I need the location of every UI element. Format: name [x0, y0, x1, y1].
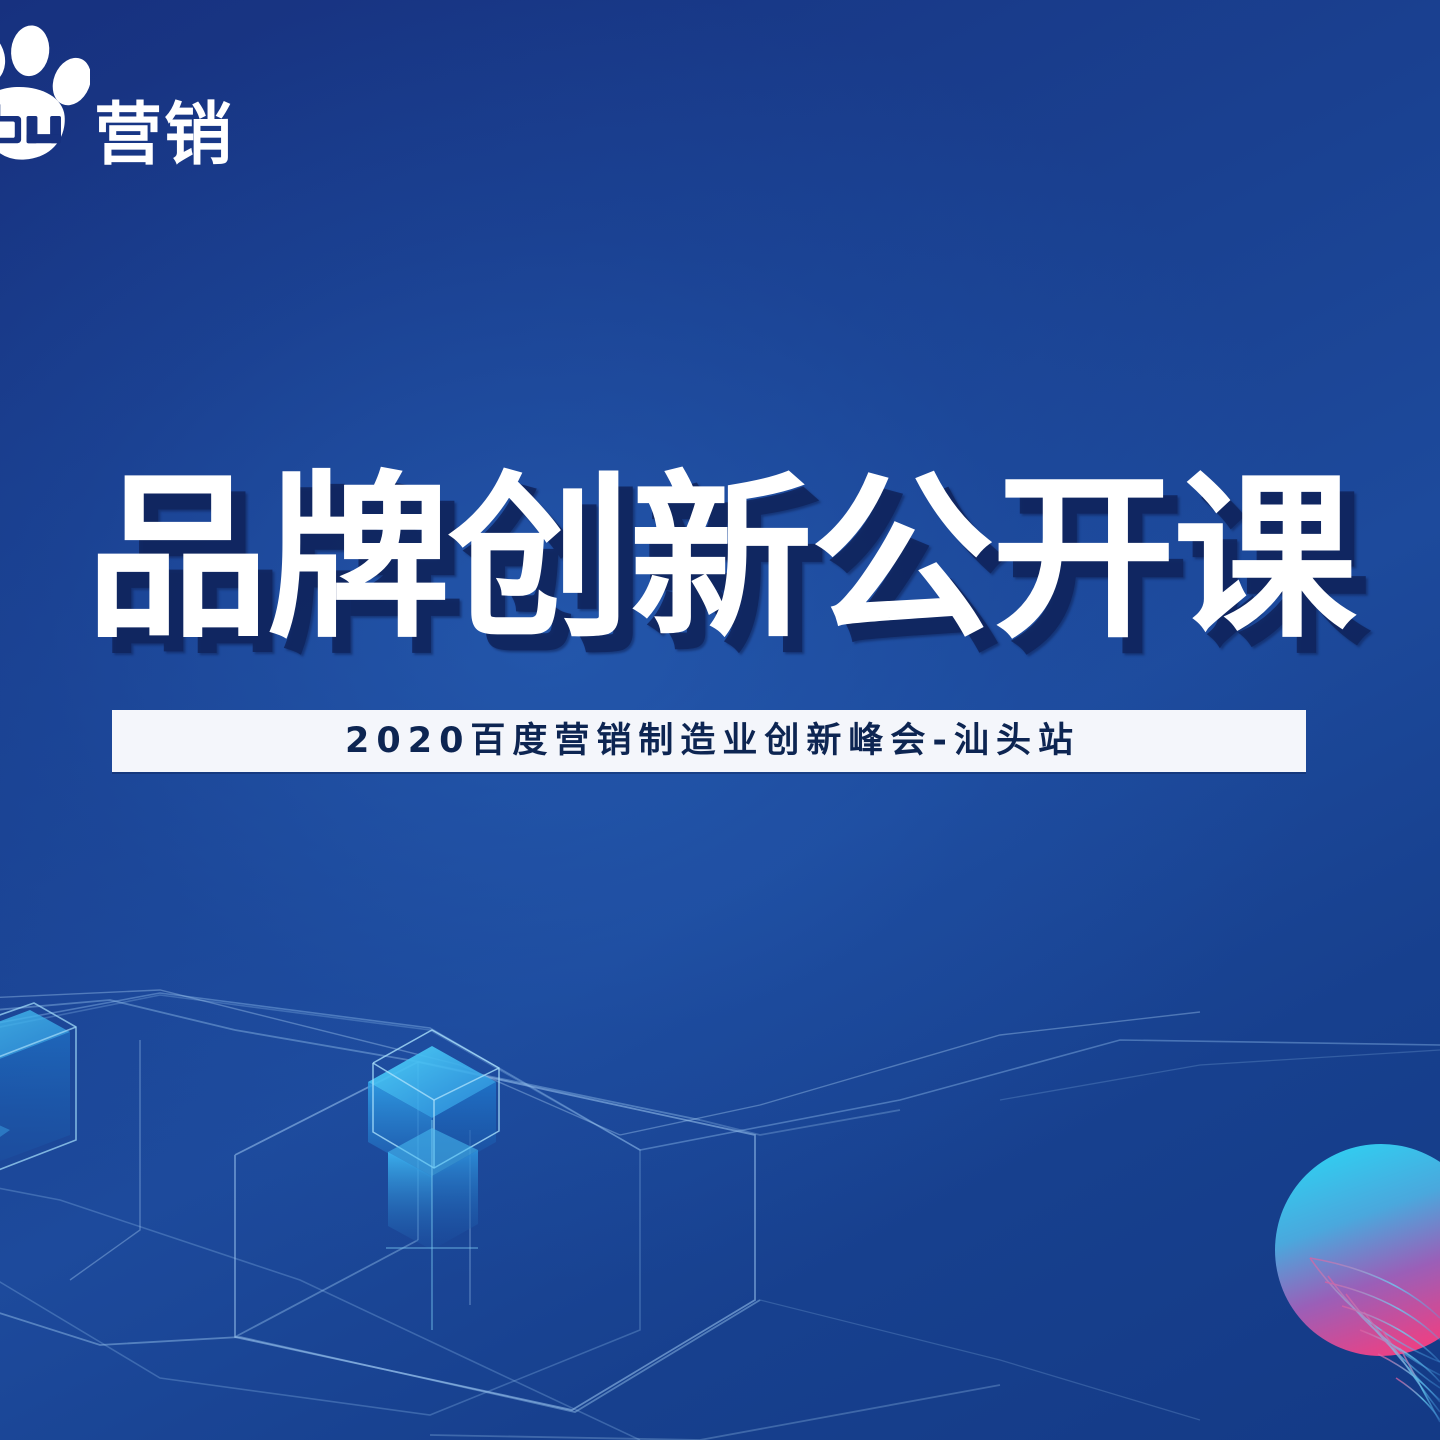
subtitle-text: 2020百度营销制造业创新峰会-汕头站: [338, 724, 1080, 759]
gradient-sphere-icon: [1275, 1144, 1440, 1356]
title-block: 品牌创新公开课: [0, 470, 1440, 648]
page-title: 品牌创新公开课: [0, 470, 1440, 648]
brand-wordmark: 营销: [94, 102, 234, 170]
baidu-marketing-logo[interactable]: 营销: [0, 16, 234, 176]
isometric-cube-icon: [0, 1003, 76, 1188]
wireframe-lines-icon: [0, 990, 1200, 1305]
accent-line-icon: [760, 1050, 1440, 1420]
poster-canvas: 营销 品牌创新公开课 2020百度营销制造业创新峰会-汕头站: [0, 0, 1440, 1440]
isometric-cube-column-icon: [368, 1030, 499, 1330]
hexagon-wireframe-icon: [0, 975, 1440, 1440]
subtitle-bar: 2020百度营销制造业创新峰会-汕头站: [112, 710, 1306, 772]
wireframe-mesh-icon: [1310, 1258, 1440, 1422]
hexagon-outline-icon: [0, 1000, 1000, 1440]
baidu-paw-icon: [0, 18, 90, 176]
